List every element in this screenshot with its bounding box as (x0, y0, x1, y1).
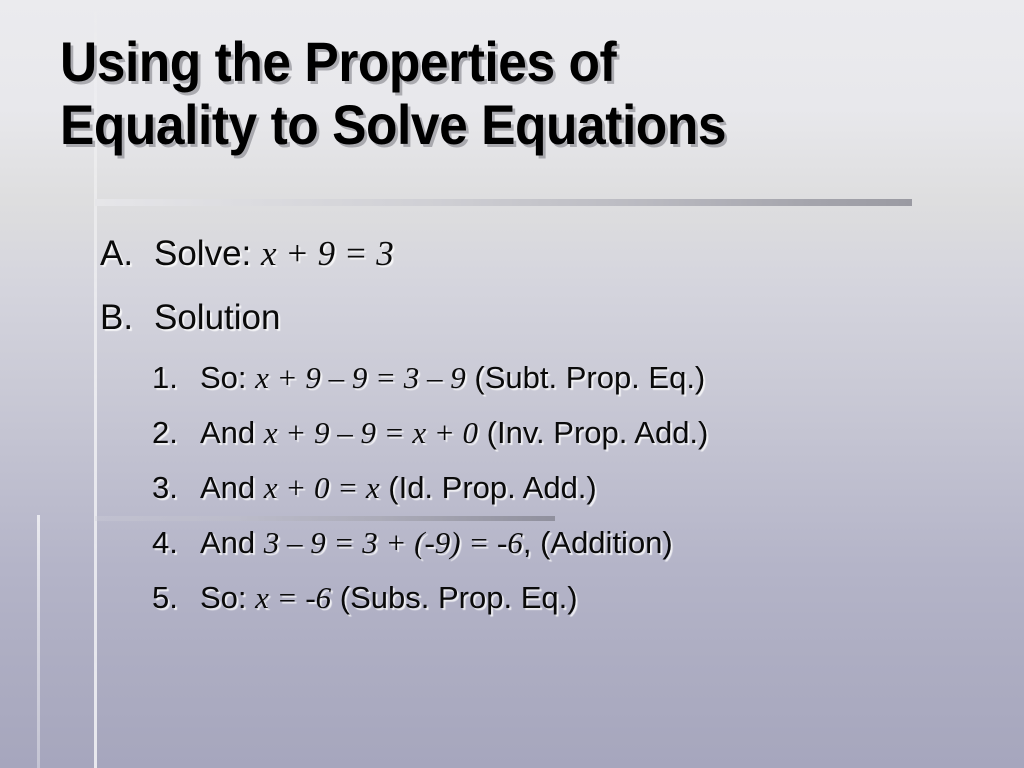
text-run: (Id. Prop. Add.) (380, 470, 597, 505)
math-expression: x + 0 = x (264, 470, 380, 505)
outline-item-a: A.Solve: x + 9 = 3 (100, 222, 1000, 286)
math-expression: x + 9 – 9 = x + 0 (264, 415, 478, 450)
slide-title: Using the Properties ofEquality to Solve… (60, 30, 906, 156)
slide-canvas: Using the Properties ofEquality to Solve… (0, 0, 1024, 768)
text-run: And (200, 415, 264, 450)
outline-marker: 3. (152, 460, 200, 515)
outline-text: And x + 0 = x (Id. Prop. Add.) (200, 460, 1000, 515)
text-run: And (200, 525, 264, 560)
outline-item-2: 2.And x + 9 – 9 = x + 0 (Inv. Prop. Add.… (152, 405, 1000, 460)
outline-text: So: x + 9 – 9 = 3 – 9 (Subt. Prop. Eq.) (200, 350, 1000, 405)
outline-marker: 1. (152, 350, 200, 405)
slide-title-line-1: Using the Properties of (60, 30, 906, 93)
text-run: And (200, 470, 264, 505)
outline-text: And 3 – 9 = 3 + (-9) = -6, (Addition) (200, 515, 1000, 570)
outline-item-3: 3.And x + 0 = x (Id. Prop. Add.) (152, 460, 1000, 515)
outline-text: Solution (154, 286, 1000, 350)
math-expression: x + 9 = 3 (261, 234, 394, 273)
outline-text: Solve: x + 9 = 3 (154, 222, 1000, 286)
text-run: , (Addition) (523, 525, 673, 560)
outline-item-4: 4.And 3 – 9 = 3 + (-9) = -6, (Addition) (152, 515, 1000, 570)
text-run: So: (200, 580, 255, 615)
text-run: (Subs. Prop. Eq.) (331, 580, 577, 615)
outline-marker: 2. (152, 405, 200, 460)
outline-marker: B. (100, 286, 154, 350)
text-run: (Inv. Prop. Add.) (478, 415, 708, 450)
slide-body-outline: A.Solve: x + 9 = 3B.Solution1.So: x + 9 … (100, 222, 1000, 625)
outline-item-b: B.Solution (100, 286, 1000, 350)
title-divider-bar (95, 199, 912, 206)
outline-marker: 5. (152, 570, 200, 625)
math-expression: x = -6 (255, 580, 331, 615)
outline-text: So: x = -6 (Subs. Prop. Eq.) (200, 570, 1000, 625)
outline-item-5: 5.So: x = -6 (Subs. Prop. Eq.) (152, 570, 1000, 625)
text-run: (Subt. Prop. Eq.) (466, 360, 706, 395)
outline-marker: A. (100, 222, 154, 286)
outline-text: And x + 9 – 9 = x + 0 (Inv. Prop. Add.) (200, 405, 1000, 460)
outline-item-1: 1.So: x + 9 – 9 = 3 – 9 (Subt. Prop. Eq.… (152, 350, 1000, 405)
math-expression: 3 – 9 = 3 + (-9) = -6 (264, 525, 523, 560)
slide-title-line-2: Equality to Solve Equations (60, 93, 906, 156)
text-run: Solve: (154, 234, 261, 273)
math-expression: x + 9 – 9 = 3 – 9 (255, 360, 466, 395)
text-run: So: (200, 360, 255, 395)
text-run: Solution (154, 298, 280, 337)
decorative-vertical-line-outer (37, 515, 40, 768)
outline-marker: 4. (152, 515, 200, 570)
